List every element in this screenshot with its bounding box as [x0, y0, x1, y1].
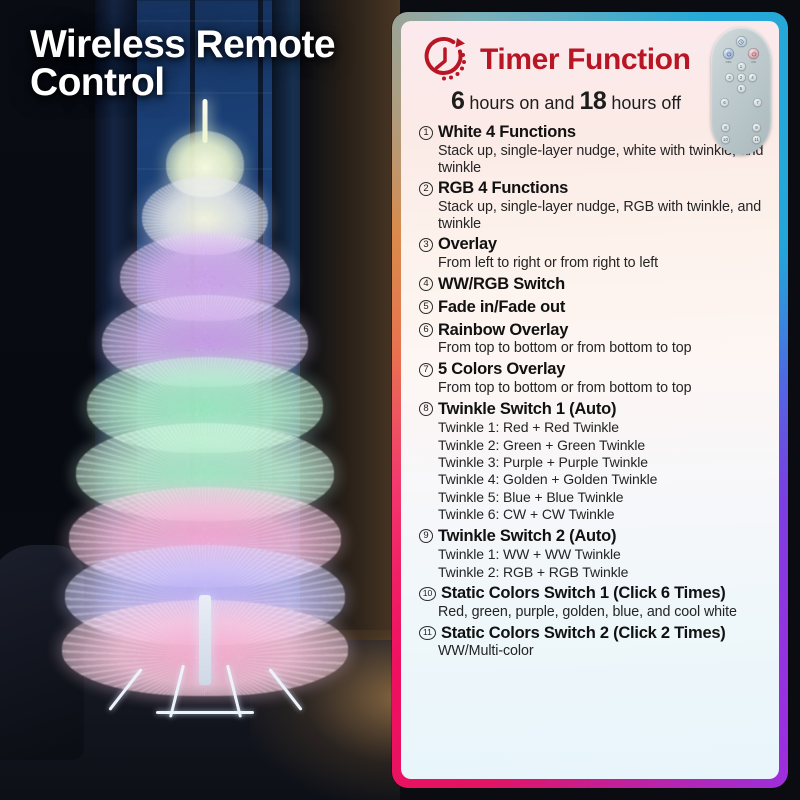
function-title: RGB 4 Functions [438, 179, 568, 199]
function-desc: Red, green, purple, golden, blue, and co… [438, 604, 767, 621]
function-entry: 6 Rainbow Overlay From top to bottom or … [419, 321, 767, 358]
function-list: 1 White 4 Functions Stack up, single-lay… [415, 123, 769, 660]
function-number: 5 [419, 300, 433, 314]
feature-panel-frame: OFF ON 1 3 2 4 5 6 7 [392, 12, 788, 788]
function-title: 5 Colors Overlay [438, 360, 565, 380]
function-number: 11 [419, 626, 436, 640]
remote-control-image: OFF ON 1 3 2 4 5 6 7 [711, 27, 771, 155]
timer-clock-icon [419, 35, 471, 85]
remote-button-5[interactable]: 5 [737, 84, 746, 93]
remote-button-2[interactable]: 2 [737, 73, 746, 82]
function-title: Static Colors Switch 2 (Click 2 Times) [441, 624, 726, 644]
function-desc: From top to bottom or from bottom to top [438, 340, 767, 357]
remote-off-label: OFF [726, 60, 732, 64]
function-desc: From top to bottom or from bottom to top [438, 380, 767, 397]
infographic-stage: Wireless Remote Control [0, 0, 800, 800]
product-photo-scene: Wireless Remote Control [0, 0, 400, 800]
function-number: 8 [419, 402, 433, 416]
function-number: 9 [419, 529, 433, 543]
remote-button-11[interactable]: 11 [752, 135, 761, 144]
function-number: 4 [419, 277, 433, 291]
function-number: 7 [419, 363, 433, 377]
led-christmas-tree [60, 105, 350, 725]
function-title: Overlay [438, 235, 497, 255]
function-row: 10 Static Colors Switch 1 (Click 6 Times… [419, 584, 767, 604]
timer-hours-on: 6 [451, 87, 464, 115]
function-title: Twinkle Switch 2 (Auto) [438, 527, 616, 547]
function-desc: WW/Multi-color [438, 643, 767, 660]
function-row: 8 Twinkle Switch 1 (Auto) [419, 400, 767, 420]
remote-on-label: ON [751, 60, 756, 64]
function-row: 6 Rainbow Overlay [419, 321, 767, 341]
page-title: Wireless Remote Control [30, 26, 375, 102]
function-row: 2 RGB 4 Functions [419, 179, 767, 199]
function-title: Twinkle Switch 1 (Auto) [438, 400, 616, 420]
function-row: 9 Twinkle Switch 2 (Auto) [419, 527, 767, 547]
stand-crossbar [156, 711, 254, 714]
function-number: 10 [419, 587, 436, 601]
tree-stand [130, 663, 280, 721]
function-subline: Twinkle 6: CW + CW Twinkle [438, 506, 767, 523]
remote-timer-button[interactable] [736, 36, 747, 47]
function-row: 3 Overlay [419, 235, 767, 255]
remote-button-3[interactable]: 3 [725, 73, 734, 82]
timer-hours-off: 18 [579, 87, 606, 115]
function-title: Static Colors Switch 1 (Click 6 Times) [441, 584, 726, 604]
stand-leg-3 [169, 665, 185, 718]
function-entry: 2 RGB 4 Functions Stack up, single-layer… [419, 179, 767, 232]
remote-button-6[interactable]: 6 [720, 98, 729, 107]
function-subline: Twinkle 3: Purple + Purple Twinkle [438, 454, 767, 471]
remote-button-8[interactable]: 8 [721, 123, 730, 132]
function-number: 6 [419, 323, 433, 337]
function-number: 3 [419, 238, 433, 252]
function-entry: 9 Twinkle Switch 2 (Auto) Twinkle 1: WW … [419, 527, 767, 582]
function-entry: 3 Overlay From left to right or from rig… [419, 235, 767, 272]
feature-panel: OFF ON 1 3 2 4 5 6 7 [401, 21, 779, 779]
remote-button-10[interactable]: 10 [721, 135, 730, 144]
function-entry: 5 Fade in/Fade out [419, 298, 767, 318]
function-subline: Twinkle 5: Blue + Blue Twinkle [438, 489, 767, 506]
remote-off-button[interactable]: OFF [723, 48, 734, 59]
function-entry: 7 5 Colors Overlay From top to bottom or… [419, 360, 767, 397]
function-number: 2 [419, 182, 433, 196]
function-sublines: Twinkle 1: Red + Red Twinkle Twinkle 2: … [438, 419, 767, 523]
function-title: White 4 Functions [438, 123, 576, 143]
function-subline: Twinkle 1: WW + WW Twinkle [438, 546, 767, 563]
timer-off-text: hours off [611, 93, 681, 113]
function-entry: 4 WW/RGB Switch [419, 275, 767, 295]
remote-button-1[interactable]: 1 [737, 62, 746, 71]
remote-button-4[interactable]: 4 [748, 73, 757, 82]
remote-body: OFF ON 1 3 2 4 5 6 7 [711, 27, 771, 155]
function-row: 7 5 Colors Overlay [419, 360, 767, 380]
function-subline: Twinkle 2: Green + Green Twinkle [438, 437, 767, 454]
function-row: 5 Fade in/Fade out [419, 298, 767, 318]
function-subline: Twinkle 4: Golden + Golden Twinkle [438, 471, 767, 488]
stand-leg-4 [226, 665, 242, 718]
remote-button-9[interactable]: 9 [752, 123, 761, 132]
function-row: 11 Static Colors Switch 2 (Click 2 Times… [419, 624, 767, 644]
function-title: Fade in/Fade out [438, 298, 565, 318]
function-number: 1 [419, 126, 433, 140]
function-entry: 11 Static Colors Switch 2 (Click 2 Times… [419, 624, 767, 661]
timer-on-text: hours on and [469, 93, 574, 113]
function-desc: From left to right or from right to left [438, 255, 767, 272]
function-sublines: Twinkle 1: WW + WW Twinkle Twinkle 2: RG… [438, 546, 767, 581]
function-subline: Twinkle 1: Red + Red Twinkle [438, 419, 767, 436]
timer-subtitle: 6 hours on and 18 hours off [415, 87, 717, 116]
function-subline: Twinkle 2: RGB + RGB Twinkle [438, 564, 767, 581]
function-entry: 10 Static Colors Switch 1 (Click 6 Times… [419, 584, 767, 621]
remote-on-button[interactable]: ON [748, 48, 759, 59]
function-entry: 8 Twinkle Switch 1 (Auto) Twinkle 1: Red… [419, 400, 767, 524]
function-title: Rainbow Overlay [438, 321, 568, 341]
function-title: WW/RGB Switch [438, 275, 565, 295]
function-desc: Stack up, single-layer nudge, RGB with t… [438, 199, 767, 232]
function-row: 4 WW/RGB Switch [419, 275, 767, 295]
remote-button-7[interactable]: 7 [753, 98, 762, 107]
timer-title: Timer Function [480, 43, 691, 77]
